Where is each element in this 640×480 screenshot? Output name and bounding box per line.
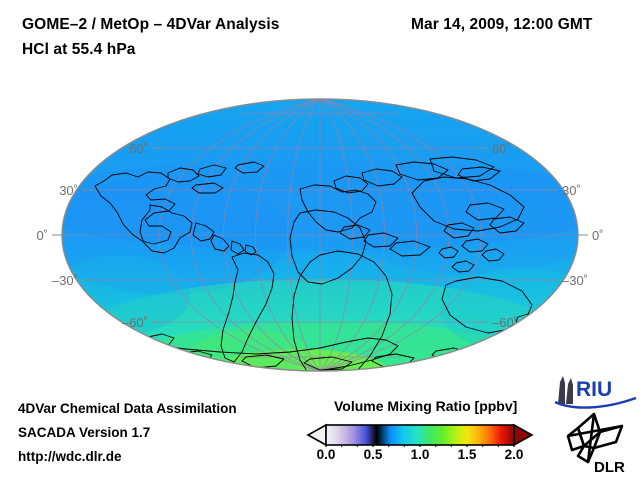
dlr-logo-text: DLR xyxy=(594,459,625,474)
colorbar-tick-label: 0.0 xyxy=(317,447,336,462)
dlr-mark-icon xyxy=(568,414,622,462)
colorbar-tick-label: 2.0 xyxy=(505,447,524,462)
colorbar-extend-low xyxy=(308,425,326,445)
map-data-field xyxy=(20,95,620,385)
colorbar-gradient xyxy=(326,425,514,445)
riu-tower-icon xyxy=(558,376,573,404)
page-title: GOME–2 / MetOp – 4DVar Analysis xyxy=(22,16,280,34)
riu-logo: RIU xyxy=(552,374,638,410)
lat-label-right-m30: –30˚ xyxy=(562,273,588,288)
footer-url[interactable]: http://wdc.dlr.de xyxy=(18,449,122,464)
footer-line-1: 4DVar Chemical Data Assimilation xyxy=(18,401,237,416)
lat-label-left-60: 60˚ xyxy=(129,141,148,156)
lat-label-left-30: 30˚ xyxy=(59,183,78,198)
lat-label-right-m60: –60˚ xyxy=(492,315,518,330)
map-plot: 60˚ 30˚ 0˚ –30˚ –60˚ 60˚ 30˚ 0˚ –30˚ –60… xyxy=(0,85,640,385)
riu-logo-text: RIU xyxy=(576,378,612,401)
colorbar-tick-labels: 0.00.51.01.52.0 xyxy=(306,447,534,467)
colorbar xyxy=(306,423,534,447)
dlr-logo: DLR xyxy=(564,412,636,474)
lat-label-left-0: 0˚ xyxy=(36,228,48,243)
logo-group: RIU DLR xyxy=(552,374,638,474)
lat-label-left-m60: –60˚ xyxy=(122,315,148,330)
colorbar-title: Volume Mixing Ratio [ppbv] xyxy=(334,398,517,414)
footer-line-2: SACADA Version 1.7 xyxy=(18,425,150,440)
lat-label-left-m30: –30˚ xyxy=(52,273,78,288)
colorbar-tick-label: 1.5 xyxy=(458,447,477,462)
page-subtitle: HCl at 55.4 hPa xyxy=(22,41,136,59)
colorbar-tick-label: 1.0 xyxy=(411,447,430,462)
colorbar-tick-label: 0.5 xyxy=(364,447,383,462)
lat-label-right-30: 30˚ xyxy=(562,183,581,198)
mollweide-map: 60˚ 30˚ 0˚ –30˚ –60˚ 60˚ 30˚ 0˚ –30˚ –60… xyxy=(0,85,640,385)
timestamp: Mar 14, 2009, 12:00 GMT xyxy=(411,16,593,34)
colorbar-extend-high xyxy=(514,425,532,445)
lat-label-right-60: 60˚ xyxy=(492,141,511,156)
lat-label-right-0: 0˚ xyxy=(592,228,604,243)
